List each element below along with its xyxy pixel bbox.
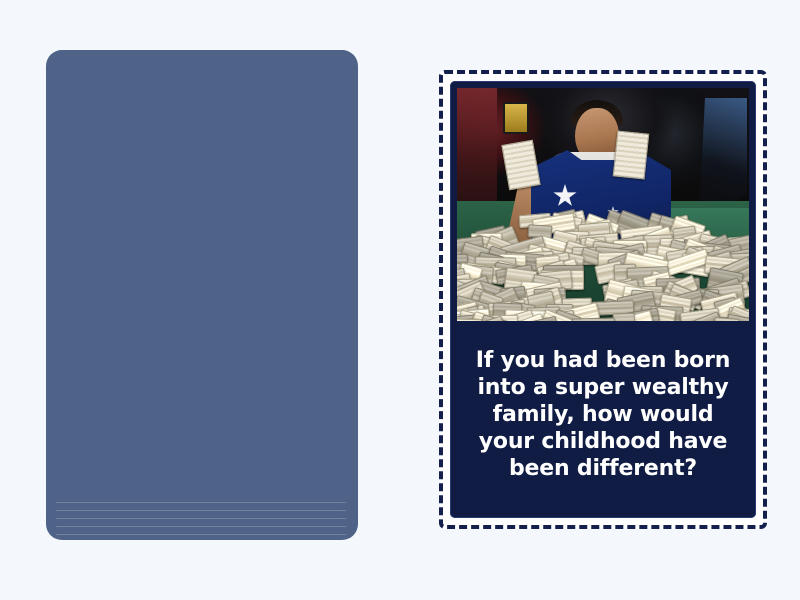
flashcard-stage: If you had been born into a super wealth… [0,0,800,600]
man-kissing-money-photo [457,88,749,321]
deck-separator-line [56,510,346,511]
photo-cash-bundle [585,188,620,212]
photo-cash-in-right-hand [613,130,650,179]
photo-cash-bundle [612,312,635,321]
question-card[interactable]: If you had been born into a super wealth… [450,81,756,518]
card-deck[interactable] [46,50,358,542]
deck-separator-line [56,502,346,503]
photo-money-pile [457,193,749,321]
question-card-dashed-frame[interactable]: If you had been born into a super wealth… [439,70,767,529]
question-text: If you had been born into a super wealth… [450,321,756,518]
deck-top-card[interactable] [48,50,356,502]
deck-separator-line [56,526,346,527]
photo-background-badge [503,102,529,134]
photo-cash-bundle [572,318,616,321]
deck-separator-line [56,534,346,535]
deck-separator-line [56,518,346,519]
